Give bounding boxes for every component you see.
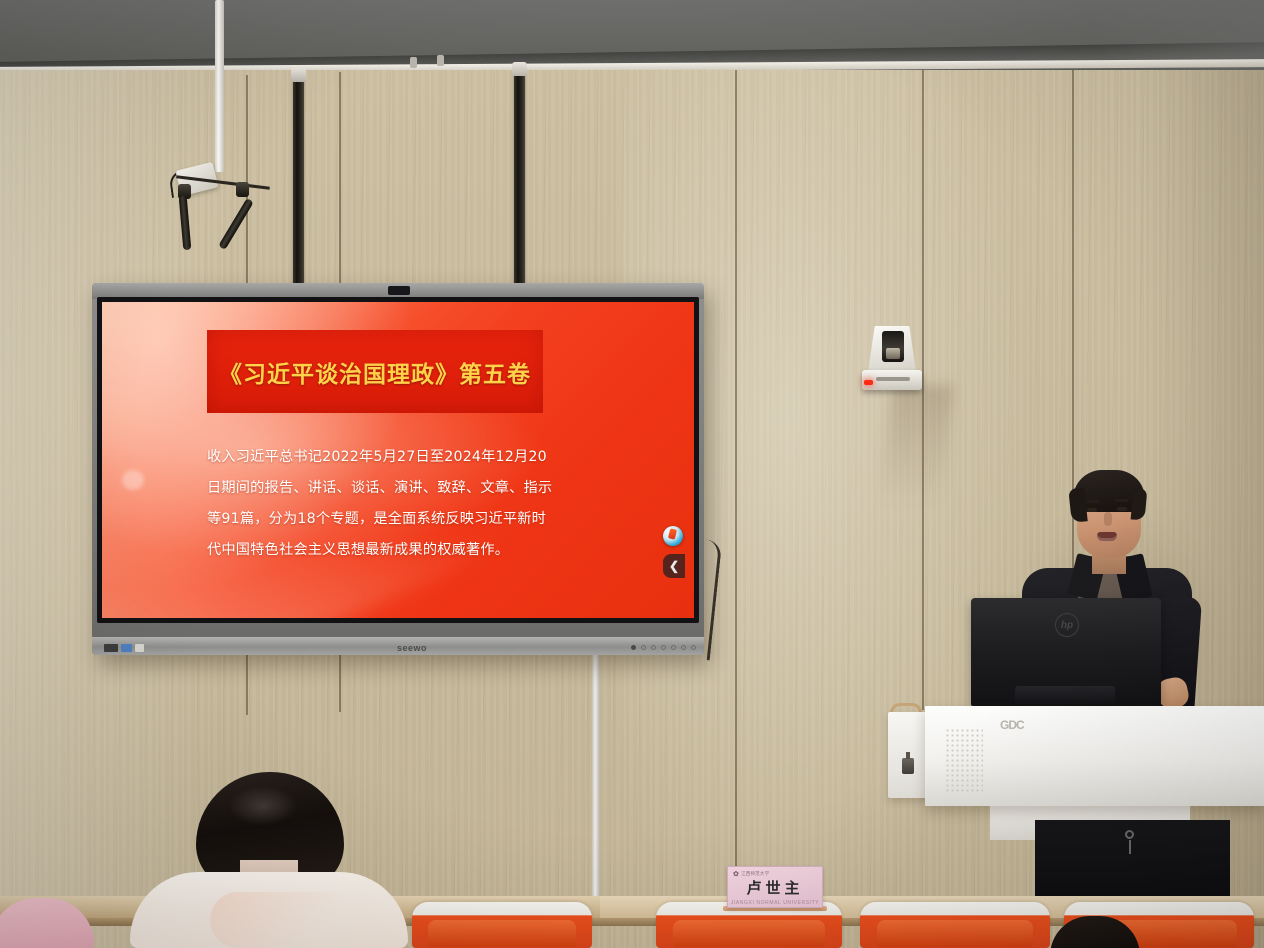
wall-rail-nub	[410, 57, 417, 68]
presenter-eye	[1087, 508, 1097, 512]
name-placard: ✿江西师范大学 卢世主 JIANGXI NORMAL UNIVERSITY	[727, 866, 823, 908]
wall-rail-cap	[291, 68, 306, 82]
slide-floating-toolbar[interactable]: ❮	[658, 526, 688, 578]
indicator-dot	[631, 645, 636, 650]
lecture-hall-photo: 《习近平谈治国理政》第五卷 收入习近平总书记2022年5月27日至2024年12…	[0, 0, 1264, 948]
indicator-dot	[641, 645, 646, 650]
port-hdmi	[121, 644, 132, 652]
presenter-nose	[1104, 512, 1112, 526]
display-ports	[104, 644, 144, 652]
camera-shadow	[880, 385, 955, 505]
audience-hair-highlight	[228, 786, 298, 826]
audience-chair[interactable]	[860, 902, 1050, 948]
display-bottom-bezel: seewo	[92, 637, 704, 655]
presenter-eye	[1117, 507, 1127, 511]
indicator-dot	[691, 645, 696, 650]
port-aux	[135, 644, 144, 652]
wall-rail-cap	[512, 62, 527, 76]
display-stand-pole	[592, 640, 600, 910]
hp-logo-icon: hp	[1055, 613, 1079, 637]
interactive-display[interactable]: 《习近平谈治国理政》第五卷 收入习近平总书记2022年5月27日至2024年12…	[92, 283, 704, 655]
microphone-icon	[236, 182, 249, 197]
presenter-mouth	[1097, 532, 1117, 541]
lock-icon[interactable]	[902, 758, 914, 774]
indicator-dot	[671, 645, 676, 650]
camera-lens-inner	[886, 348, 900, 359]
back-chevron-icon[interactable]: ❮	[663, 554, 685, 578]
monitor-stand	[1015, 686, 1115, 704]
presenter-brow	[1086, 500, 1099, 503]
screen-glare	[122, 470, 144, 490]
indicator-dot	[681, 645, 686, 650]
wall-rail-nub	[437, 55, 444, 66]
seewo-app-icon[interactable]	[663, 526, 683, 546]
podium-logo: GDC	[1000, 718, 1040, 730]
presenter-brow	[1115, 499, 1128, 502]
slide-title: 《习近平谈治国理政》第五卷	[207, 330, 543, 413]
placard-subtitle: JIANGXI NORMAL UNIVERSITY	[728, 900, 822, 906]
camera-label-strip	[876, 377, 910, 381]
placard-org-mark: 江西师范大学	[741, 871, 769, 877]
camera-led-indicator	[864, 380, 873, 385]
audience-chair[interactable]	[412, 902, 592, 948]
wall-seam	[735, 70, 737, 948]
display-indicator-dots	[631, 645, 696, 650]
webcam-icon	[388, 286, 410, 295]
wall-rail	[514, 72, 525, 300]
slide-body-text: 收入习近平总书记2022年5月27日至2024年12月20日期间的报告、讲话、谈…	[207, 442, 557, 566]
ptz-camera	[862, 326, 922, 392]
indicator-dot	[651, 645, 656, 650]
display-brand-logo: seewo	[382, 643, 442, 653]
port-usb	[104, 644, 118, 652]
display-bezel: 《习近平谈治国理政》第五卷 收入习近平总书记2022年5月27日至2024年12…	[97, 297, 699, 623]
indicator-dot	[661, 645, 666, 650]
presentation-slide[interactable]: 《习近平谈治国理政》第五卷 收入习近平总书记2022年5月27日至2024年12…	[102, 302, 694, 618]
ceiling-mic-pole	[215, 0, 224, 172]
university-logo-icon: ✿江西师范大学	[733, 870, 769, 878]
placard-name-text: 卢世主	[746, 877, 803, 898]
audience-sweater-shade	[210, 892, 360, 948]
wall-rail	[293, 78, 304, 298]
keyhole-icon	[1125, 830, 1134, 839]
podium-speaker-grille	[945, 728, 983, 793]
